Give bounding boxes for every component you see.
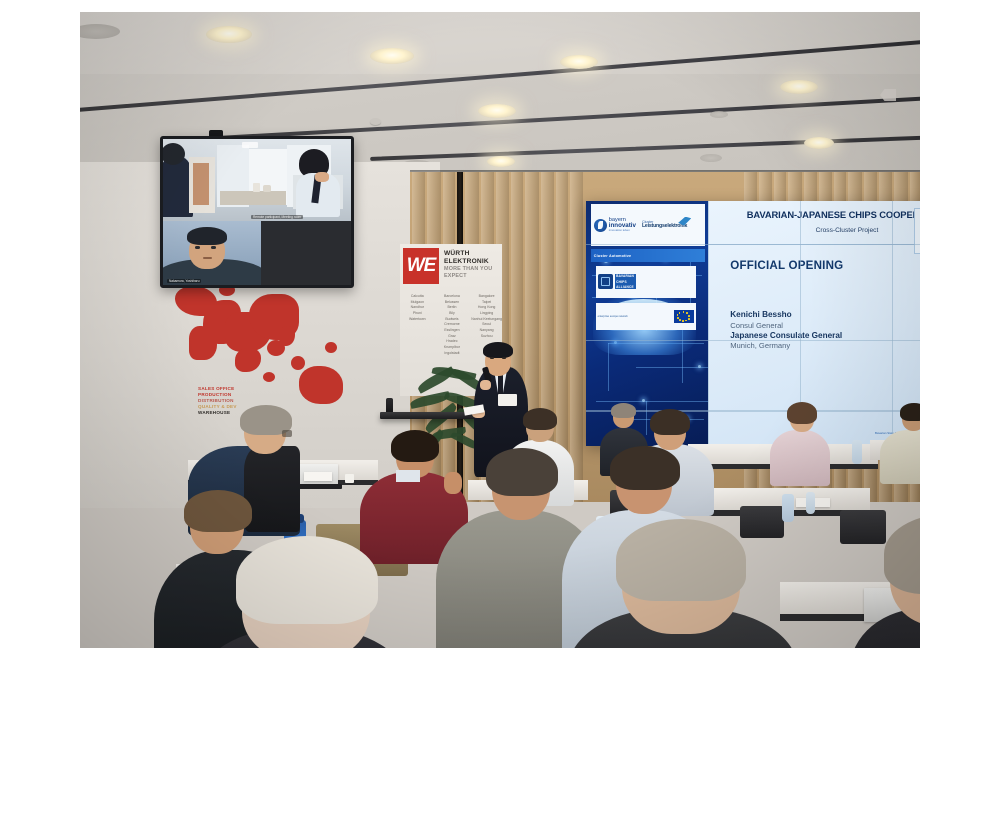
water-bottle bbox=[806, 492, 815, 514]
vc-tile-top: Remote participant, Meeting room bbox=[163, 139, 351, 221]
company-tagline: MORE THAN YOU EXPECT bbox=[444, 266, 502, 279]
video-conference-display: Remote participant, Meeting room Nakamur… bbox=[160, 136, 354, 288]
city-column: Calcutta Mulgaon Nandhur Phuni Watertown bbox=[402, 294, 433, 356]
bayern-innovativ-mark bbox=[594, 219, 607, 232]
speaker-location: Munich, Germany bbox=[730, 341, 842, 351]
wurth-we-logo bbox=[403, 248, 439, 284]
enterprise-europe-network-logo: enterprise europe network bbox=[596, 303, 696, 330]
screenshot-canvas: SALES OFFICE PRODUCTION DISTRIBUTION QUA… bbox=[0, 0, 1000, 817]
eu-flag-icon bbox=[674, 310, 694, 323]
chip-icon bbox=[598, 274, 613, 289]
bayern-innovativ-logo: bayern innovativ innovation leben Cluste… bbox=[591, 204, 705, 246]
vc-tile-bottom-left: Nakamura, Yoshiharu bbox=[163, 221, 261, 285]
paper bbox=[304, 472, 332, 481]
cluster-automotive-strip: Cluster Automotive bbox=[591, 249, 705, 262]
cluster-leistungselektronik-logo: Cluster Leistungselektronik bbox=[642, 221, 687, 230]
vc-participant-label: Remote participant, Meeting room bbox=[251, 215, 303, 219]
vc-tile-bottom-right bbox=[261, 221, 351, 285]
speaker-name: Kenichi Bessho bbox=[730, 310, 842, 321]
vc-mute-icon bbox=[242, 142, 258, 148]
company-name: WÜRTH ELEKTRONIK bbox=[444, 250, 502, 266]
water-bottle bbox=[852, 440, 862, 464]
water-bottle bbox=[782, 494, 794, 522]
city-column: Barcelona Belussen Berlin Bily Budweis C… bbox=[437, 294, 468, 356]
slide-speaker-block: Kenichi Bessho Consul General Japanese C… bbox=[730, 310, 842, 351]
speaker-role: Consul General bbox=[730, 321, 842, 331]
bavarian-chips-alliance-logo: BAVARIAN CHIPS ALLIANCE bbox=[596, 266, 696, 298]
cooperation-emblem bbox=[914, 208, 920, 254]
vc-participant-label: Nakamura, Yoshiharu bbox=[167, 279, 201, 283]
name-badge bbox=[498, 394, 517, 406]
conference-room-photograph: SALES OFFICE PRODUCTION DISTRIBUTION QUA… bbox=[80, 12, 920, 648]
presentation-video-wall: bayern innovativ innovation leben Cluste… bbox=[586, 201, 920, 446]
slide-section-title: OFFICIAL OPENING bbox=[730, 259, 843, 272]
